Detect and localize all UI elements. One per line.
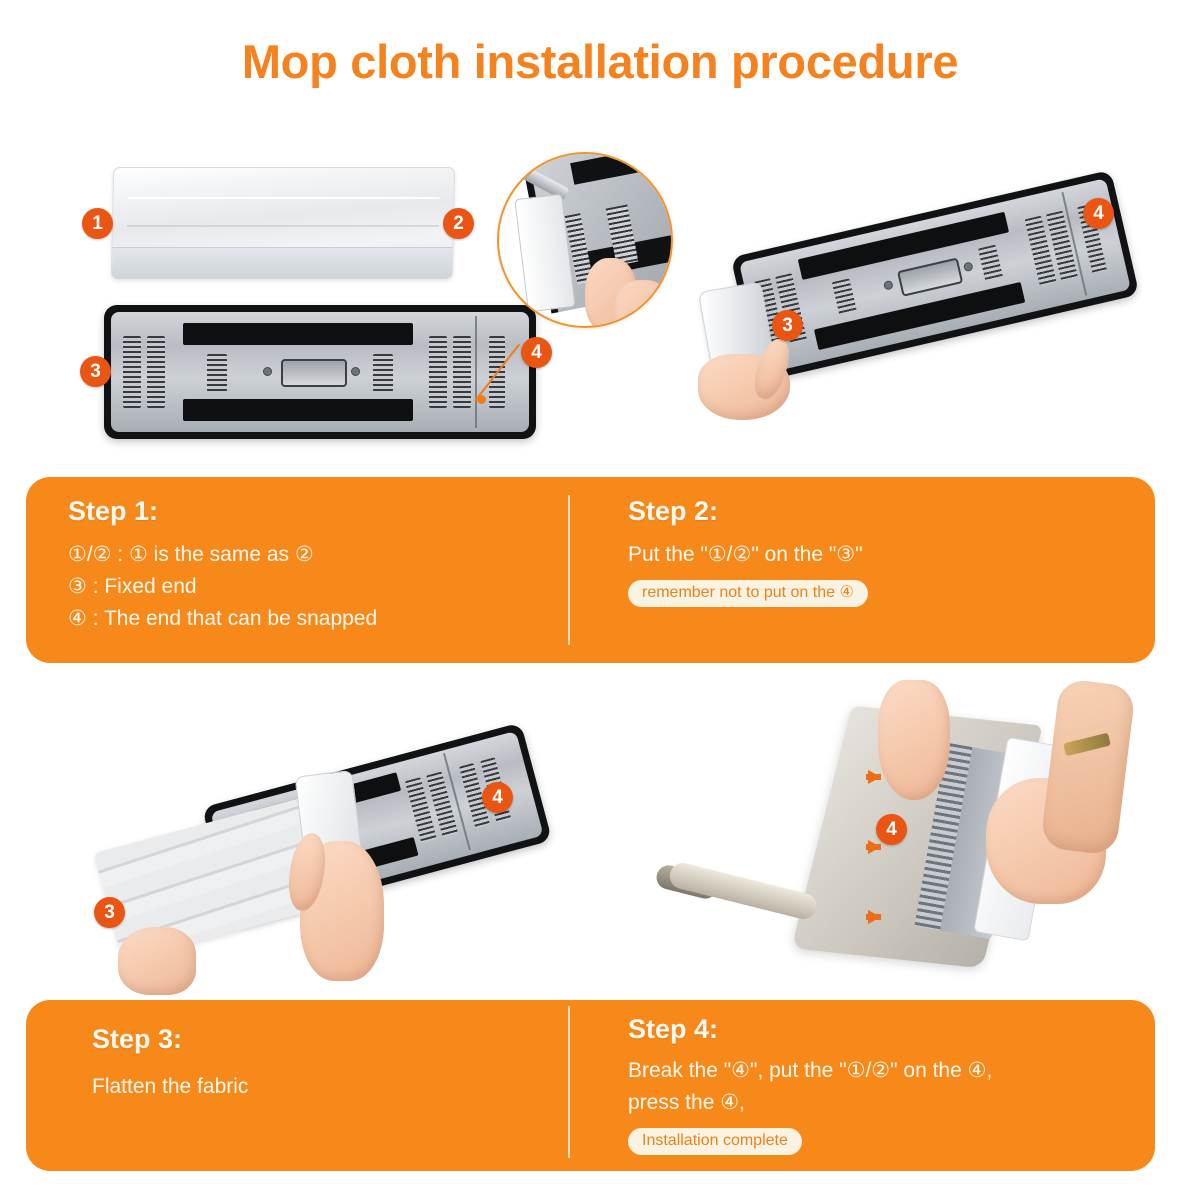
step-1-line-1: ①/② : ① is the same as ② bbox=[68, 539, 377, 571]
snap-clip-closeup-inset bbox=[497, 152, 673, 328]
plate-black-bar-top bbox=[183, 323, 413, 345]
plate-vent-left-a bbox=[123, 336, 141, 408]
tilted-handle-hub bbox=[897, 257, 963, 296]
step-2-heading: Step 2: bbox=[628, 498, 868, 525]
step-4-heading: Step 4: bbox=[628, 1016, 992, 1043]
plate-surface bbox=[111, 312, 529, 432]
plate-vent-mid-left bbox=[207, 354, 227, 392]
press-arrow-middle bbox=[868, 840, 881, 854]
steps-panel-divider-bottom bbox=[568, 1006, 570, 1158]
marker-1: 1 bbox=[82, 208, 113, 239]
step-4-complete-badge: Installation complete bbox=[628, 1128, 802, 1155]
plate-screw-left bbox=[263, 367, 272, 376]
marker-3-bottom-left: 3 bbox=[94, 897, 125, 928]
steps-panel-divider-top bbox=[568, 495, 570, 645]
marker-2: 2 bbox=[443, 208, 474, 239]
step-1-line-3: ④ : The end that can be snapped bbox=[68, 603, 377, 635]
plate-handle-hub bbox=[281, 359, 347, 387]
step-4-line-2: press the ④, bbox=[628, 1087, 992, 1119]
plate-vent-right-a bbox=[429, 336, 447, 408]
marker-4-bottom-right: 4 bbox=[876, 814, 907, 845]
mop-plate-tilted bbox=[731, 170, 1140, 382]
plate-vent-mid-right bbox=[373, 354, 393, 392]
marker-4-top-right: 4 bbox=[1083, 198, 1114, 229]
step-1-heading: Step 1: bbox=[68, 498, 377, 525]
plate-black-bar-bottom bbox=[183, 399, 413, 421]
supporting-hand bbox=[118, 927, 196, 995]
step-1-block: Step 1: ①/② : ① is the same as ② ③ : Fix… bbox=[68, 498, 377, 635]
cloth-fold bbox=[112, 247, 453, 279]
snap-cloth-edge-photo bbox=[672, 692, 1142, 992]
marker-4-bottom-left: 4 bbox=[482, 782, 513, 813]
plate-vent-right-b bbox=[453, 336, 471, 408]
plate-seam bbox=[475, 316, 477, 428]
step-2-line-1: Put the "①/②" on the "③" bbox=[628, 539, 868, 571]
mop-pole-white bbox=[667, 860, 819, 922]
marker-4-top-left: 4 bbox=[521, 337, 552, 368]
marker-3-top-right: 3 bbox=[772, 310, 803, 341]
step-3-heading: Step 3: bbox=[92, 1026, 248, 1053]
press-arrow-top bbox=[868, 770, 881, 784]
tilted-vent-mid-2 bbox=[978, 245, 1003, 282]
tilted-vent-mid bbox=[832, 278, 857, 315]
step-3-block: Step 3: Flatten the fabric bbox=[92, 1026, 248, 1103]
hand-top-fingers bbox=[878, 680, 950, 800]
step-1-line-2: ③ : Fixed end bbox=[68, 571, 377, 603]
plate-surface-tilted bbox=[739, 178, 1131, 374]
plate-screw-right bbox=[351, 367, 360, 376]
inset-finger-middle bbox=[615, 280, 671, 328]
step-2-block: Step 2: Put the "①/②" on the "③" remembe… bbox=[628, 498, 868, 607]
step-3-line-1: Flatten the fabric bbox=[92, 1071, 248, 1103]
forearm bbox=[1040, 678, 1136, 856]
step-4-line-1: Break the "④", put the "①/②" on the ④, bbox=[628, 1055, 992, 1087]
marker-4-pointer-dot bbox=[477, 395, 486, 404]
step-4-block: Step 4: Break the "④", put the "①/②" on … bbox=[628, 1016, 992, 1155]
tilted-screw-right bbox=[963, 261, 974, 272]
installation-guide-page: Mop cloth installation procedure 1 2 3 4 bbox=[0, 0, 1200, 1200]
inset-black-bar-a bbox=[570, 152, 673, 185]
step-2-note-badge: remember not to put on the ④ bbox=[628, 580, 868, 607]
plate-vent-left-b bbox=[147, 336, 165, 408]
mop-cloth-strip bbox=[111, 167, 455, 279]
flatten-fabric-photo bbox=[104, 745, 534, 995]
plate-with-rolled-cloth-photo bbox=[706, 168, 1126, 438]
press-arrow-bottom bbox=[868, 910, 881, 924]
page-title: Mop cloth installation procedure bbox=[0, 34, 1200, 89]
marker-3-top-left: 3 bbox=[80, 356, 111, 387]
mop-plate-front bbox=[104, 305, 536, 439]
tilted-screw-left bbox=[883, 280, 894, 291]
